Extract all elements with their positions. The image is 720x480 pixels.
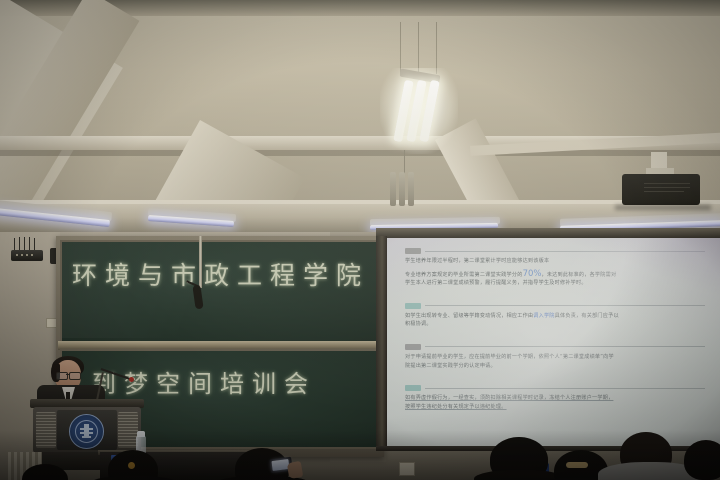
podium-speaker-grill-right — [118, 412, 138, 448]
presenter-glasses-bridge — [66, 374, 70, 375]
slide-line-part: 具体负责，有关部门应予以 — [555, 313, 619, 319]
slide-block-2-header — [405, 303, 705, 309]
slide-emphasis: 调入学院 — [533, 313, 554, 319]
slide-block-3-header — [405, 344, 705, 350]
slide-line-with-link: 如学生出现转专业、留级等学籍变动情况，相应工作由调入学院具体负责，有关部门应予以 — [405, 312, 705, 321]
screen-left-frame — [376, 236, 387, 448]
ceiling — [0, 0, 720, 232]
slide-block-4-header — [405, 385, 705, 391]
slide-line: 积极协调。 — [405, 320, 705, 329]
bullet-marker-icon — [405, 344, 421, 350]
hair-band-icon — [566, 462, 588, 468]
bullet-marker-icon — [405, 303, 421, 309]
microphone-stand-pole — [199, 236, 202, 288]
chalkboard-heading: 环境与市政工程学院 — [72, 256, 369, 292]
wall-outlet-center — [399, 462, 415, 476]
projection-screen: 学生培养年限过半程时，第二课堂累计学时应能够达到该版本 专业培养方案规定的毕业所… — [387, 238, 720, 446]
slide-line-with-highlight: 专业培养方案规定的毕业所需第二课堂实践学分的70%，未达到此标准的，各学院需对 — [405, 270, 705, 280]
lecture-hall-photo: 环境与市政工程学院 到梦空间培训会 学生培养年限过半程时，第二课堂累计学时应能够… — [0, 0, 720, 480]
antenna-signal-device — [11, 250, 43, 261]
podium-speaker-grill-left — [36, 412, 56, 448]
slide-block-4: 如有弄虚作假行为，一经查实，须酌扣除相关课程学时记录，冻结个人注册账户一学期， … — [405, 385, 705, 411]
hair-clip-icon — [128, 462, 135, 469]
bullet-marker-icon — [405, 248, 421, 254]
divider — [425, 346, 705, 347]
slide-line: 对于申请提前毕业的学生，应在提前毕业的前一个学期，依照个人“第二课堂成绩单”向学 — [405, 353, 705, 362]
slide-line: 院提出第二课堂实践学分的认定申请。 — [405, 362, 705, 371]
pendant-2-wire — [404, 150, 405, 174]
slide-line-part: 专业培养方案规定的毕业所需第二课堂实践学分的 — [405, 272, 523, 278]
audience-head-6 — [684, 440, 720, 480]
slide-block-1: 学生培养年限过半程时，第二课堂累计学时应能够达到该版本 专业培养方案规定的毕业所… — [405, 248, 705, 288]
slide-line: 如有弄虚作假行为，一经查实，须酌扣除相关课程学时记录，冻结个人注册账户一学期， — [405, 394, 705, 403]
slide-line-part: 如学生出现转专业、留级等学籍变动情况，相应工作由 — [405, 313, 533, 319]
slide-line: 学生本人进行第二课堂成绩预警，履行提醒义务，并指导学生及时修补学时。 — [405, 279, 705, 288]
slide-block-3: 对于申请提前毕业的学生，应在提前毕业的前一个学期，依照个人“第二课堂成绩单”向学… — [405, 344, 705, 370]
chalkboard-subheading: 到梦空间培训会 — [92, 364, 316, 399]
ceiling-ledge-shadow — [0, 150, 720, 156]
podium-microphone-tip — [129, 377, 134, 382]
audience-hand — [287, 461, 304, 479]
projector — [622, 174, 700, 205]
slide-block-2: 如学生出现转专业、留级等学籍变动情况，相应工作由调入学院具体负责，有关部门应予以… — [405, 303, 705, 329]
slide-content: 学生培养年限过半程时，第二课堂累计学时应能够达到该版本 专业培养方案规定的毕业所… — [405, 248, 705, 438]
slide-line: 按照学生违纪处分有关规定予以违纪处理。 — [405, 403, 705, 412]
bullet-marker-icon — [405, 385, 421, 391]
slide-highlight-value: 70% — [523, 269, 542, 279]
slide-block-1-header — [405, 248, 705, 254]
divider — [425, 305, 705, 306]
audience-shoulders-1 — [92, 476, 176, 480]
projector-shadow — [615, 205, 711, 210]
pendant-light-wires — [398, 22, 440, 74]
divider — [425, 388, 705, 389]
divider — [425, 251, 705, 252]
slide-line-part: ，未达到此标准的，各学院需对 — [541, 272, 616, 278]
pendant-light-2 — [390, 172, 420, 206]
university-crest-icon — [69, 414, 104, 449]
slide-line: 学生培养年限过半程时，第二课堂累计学时应能够达到该版本 — [405, 257, 705, 266]
presenter-glasses-right — [69, 372, 81, 380]
screen-housing — [376, 228, 720, 238]
